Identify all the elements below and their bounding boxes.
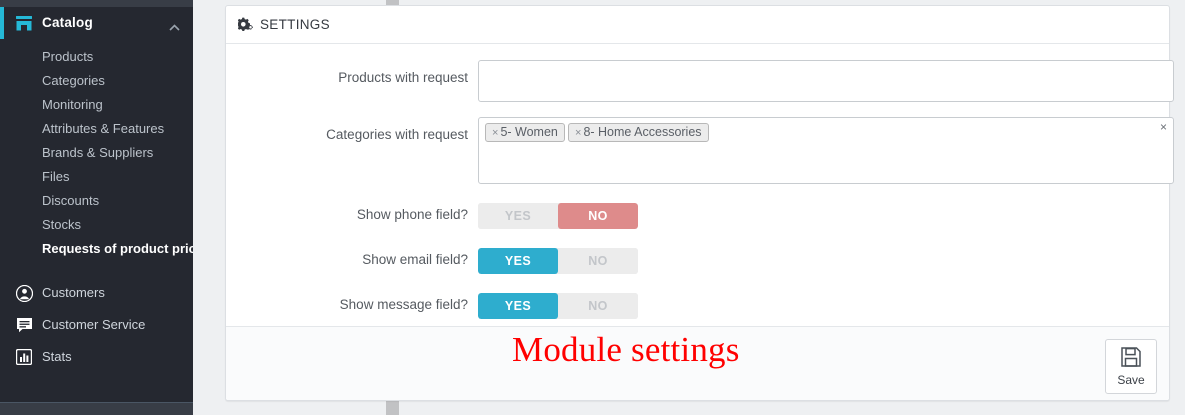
sidebar-item-stats-label: Stats [42,349,72,364]
show-message-field-yes[interactable]: YES [478,293,558,319]
sidebar-item-catalog[interactable]: Catalog [0,7,193,39]
save-button-label: Save [1117,373,1144,387]
sidebar-item-catalog-label: Catalog [42,15,93,30]
sidebar-item-customers-label: Customers [42,285,105,300]
save-button[interactable]: Save [1105,339,1157,394]
sidebar-item-stats[interactable]: Stats [0,341,193,373]
sidebar-item-categories[interactable]: Categories [0,69,193,93]
sidebar-top-strip [0,0,193,7]
sidebar-item-brands-suppliers[interactable]: Brands & Suppliers [0,141,193,165]
sidebar-item-customer-service-label: Customer Service [42,317,145,332]
form-row-products-with-request: Products with request [226,60,1169,104]
sidebar-item-files[interactable]: Files [0,165,193,189]
sidebar-item-requests-of-product-price[interactable]: Requests of product price [0,237,193,261]
tag-item[interactable]: ×8- Home Accessories [568,123,709,142]
panel-body: Products with request Categories with re… [226,44,1169,326]
sidebar-item-products[interactable]: Products [0,45,193,69]
sidebar-lower-menu: Customers Customer Service [0,277,193,373]
tag-label: 5- Women [500,125,557,139]
show-message-field-no[interactable]: NO [558,293,638,319]
sidebar-item-customer-service[interactable]: Customer Service [0,309,193,341]
show-phone-field-toggle[interactable]: YES NO [478,203,638,229]
admin-page: Catalog Products Categories Monitoring A… [0,0,1185,415]
sidebar-item-stocks[interactable]: Stocks [0,213,193,237]
panel-title: SETTINGS [260,17,330,32]
form-row-categories-with-request: Categories with request ×5- Women ×8- Ho… [226,117,1169,187]
sidebar: Catalog Products Categories Monitoring A… [0,0,193,415]
speech-bubble-icon [15,316,33,334]
bar-chart-icon [15,348,33,366]
products-with-request-input[interactable] [478,60,1174,102]
active-indicator-bar [0,7,4,39]
show-email-field-no[interactable]: NO [558,248,638,274]
show-phone-field-label: Show phone field? [266,207,468,222]
tag-item[interactable]: ×5- Women [485,123,565,142]
show-phone-field-no[interactable]: NO [558,203,638,229]
form-row-show-phone-field: Show phone field? YES NO [226,203,1169,229]
tag-label: 8- Home Accessories [583,125,701,139]
person-circle-icon [15,284,33,302]
sidebar-item-attributes-features[interactable]: Attributes & Features [0,117,193,141]
store-icon [15,15,33,32]
cogs-icon [238,17,255,32]
sidebar-scrollbar-track[interactable] [193,0,206,415]
panel-header: SETTINGS [226,6,1169,44]
categories-with-request-tags-box[interactable]: ×5- Women ×8- Home Accessories × [478,117,1174,184]
show-email-field-label: Show email field? [266,252,468,267]
sidebar-submenu: Products Categories Monitoring Attribute… [0,45,193,261]
annotation-text: Module settings [512,330,740,370]
show-email-field-yes[interactable]: YES [478,248,558,274]
show-message-field-label: Show message field? [266,297,468,312]
clear-all-icon[interactable]: × [1160,121,1167,133]
show-phone-field-yes[interactable]: YES [478,203,558,229]
sidebar-item-customers[interactable]: Customers [0,277,193,309]
show-email-field-toggle[interactable]: YES NO [478,248,638,274]
form-row-show-email-field: Show email field? YES NO [226,248,1169,274]
show-message-field-toggle[interactable]: YES NO [478,293,638,319]
sidebar-item-monitoring[interactable]: Monitoring [0,93,193,117]
tag-remove-icon[interactable]: × [492,127,498,139]
sidebar-footer [0,402,193,415]
sidebar-item-discounts[interactable]: Discounts [0,189,193,213]
categories-with-request-label: Categories with request [266,127,468,142]
products-with-request-label: Products with request [266,70,468,85]
tag-remove-icon[interactable]: × [575,127,581,139]
chevron-up-icon[interactable] [169,19,180,26]
form-row-show-message-field: Show message field? YES NO [226,293,1169,319]
floppy-disk-icon [1120,346,1142,371]
